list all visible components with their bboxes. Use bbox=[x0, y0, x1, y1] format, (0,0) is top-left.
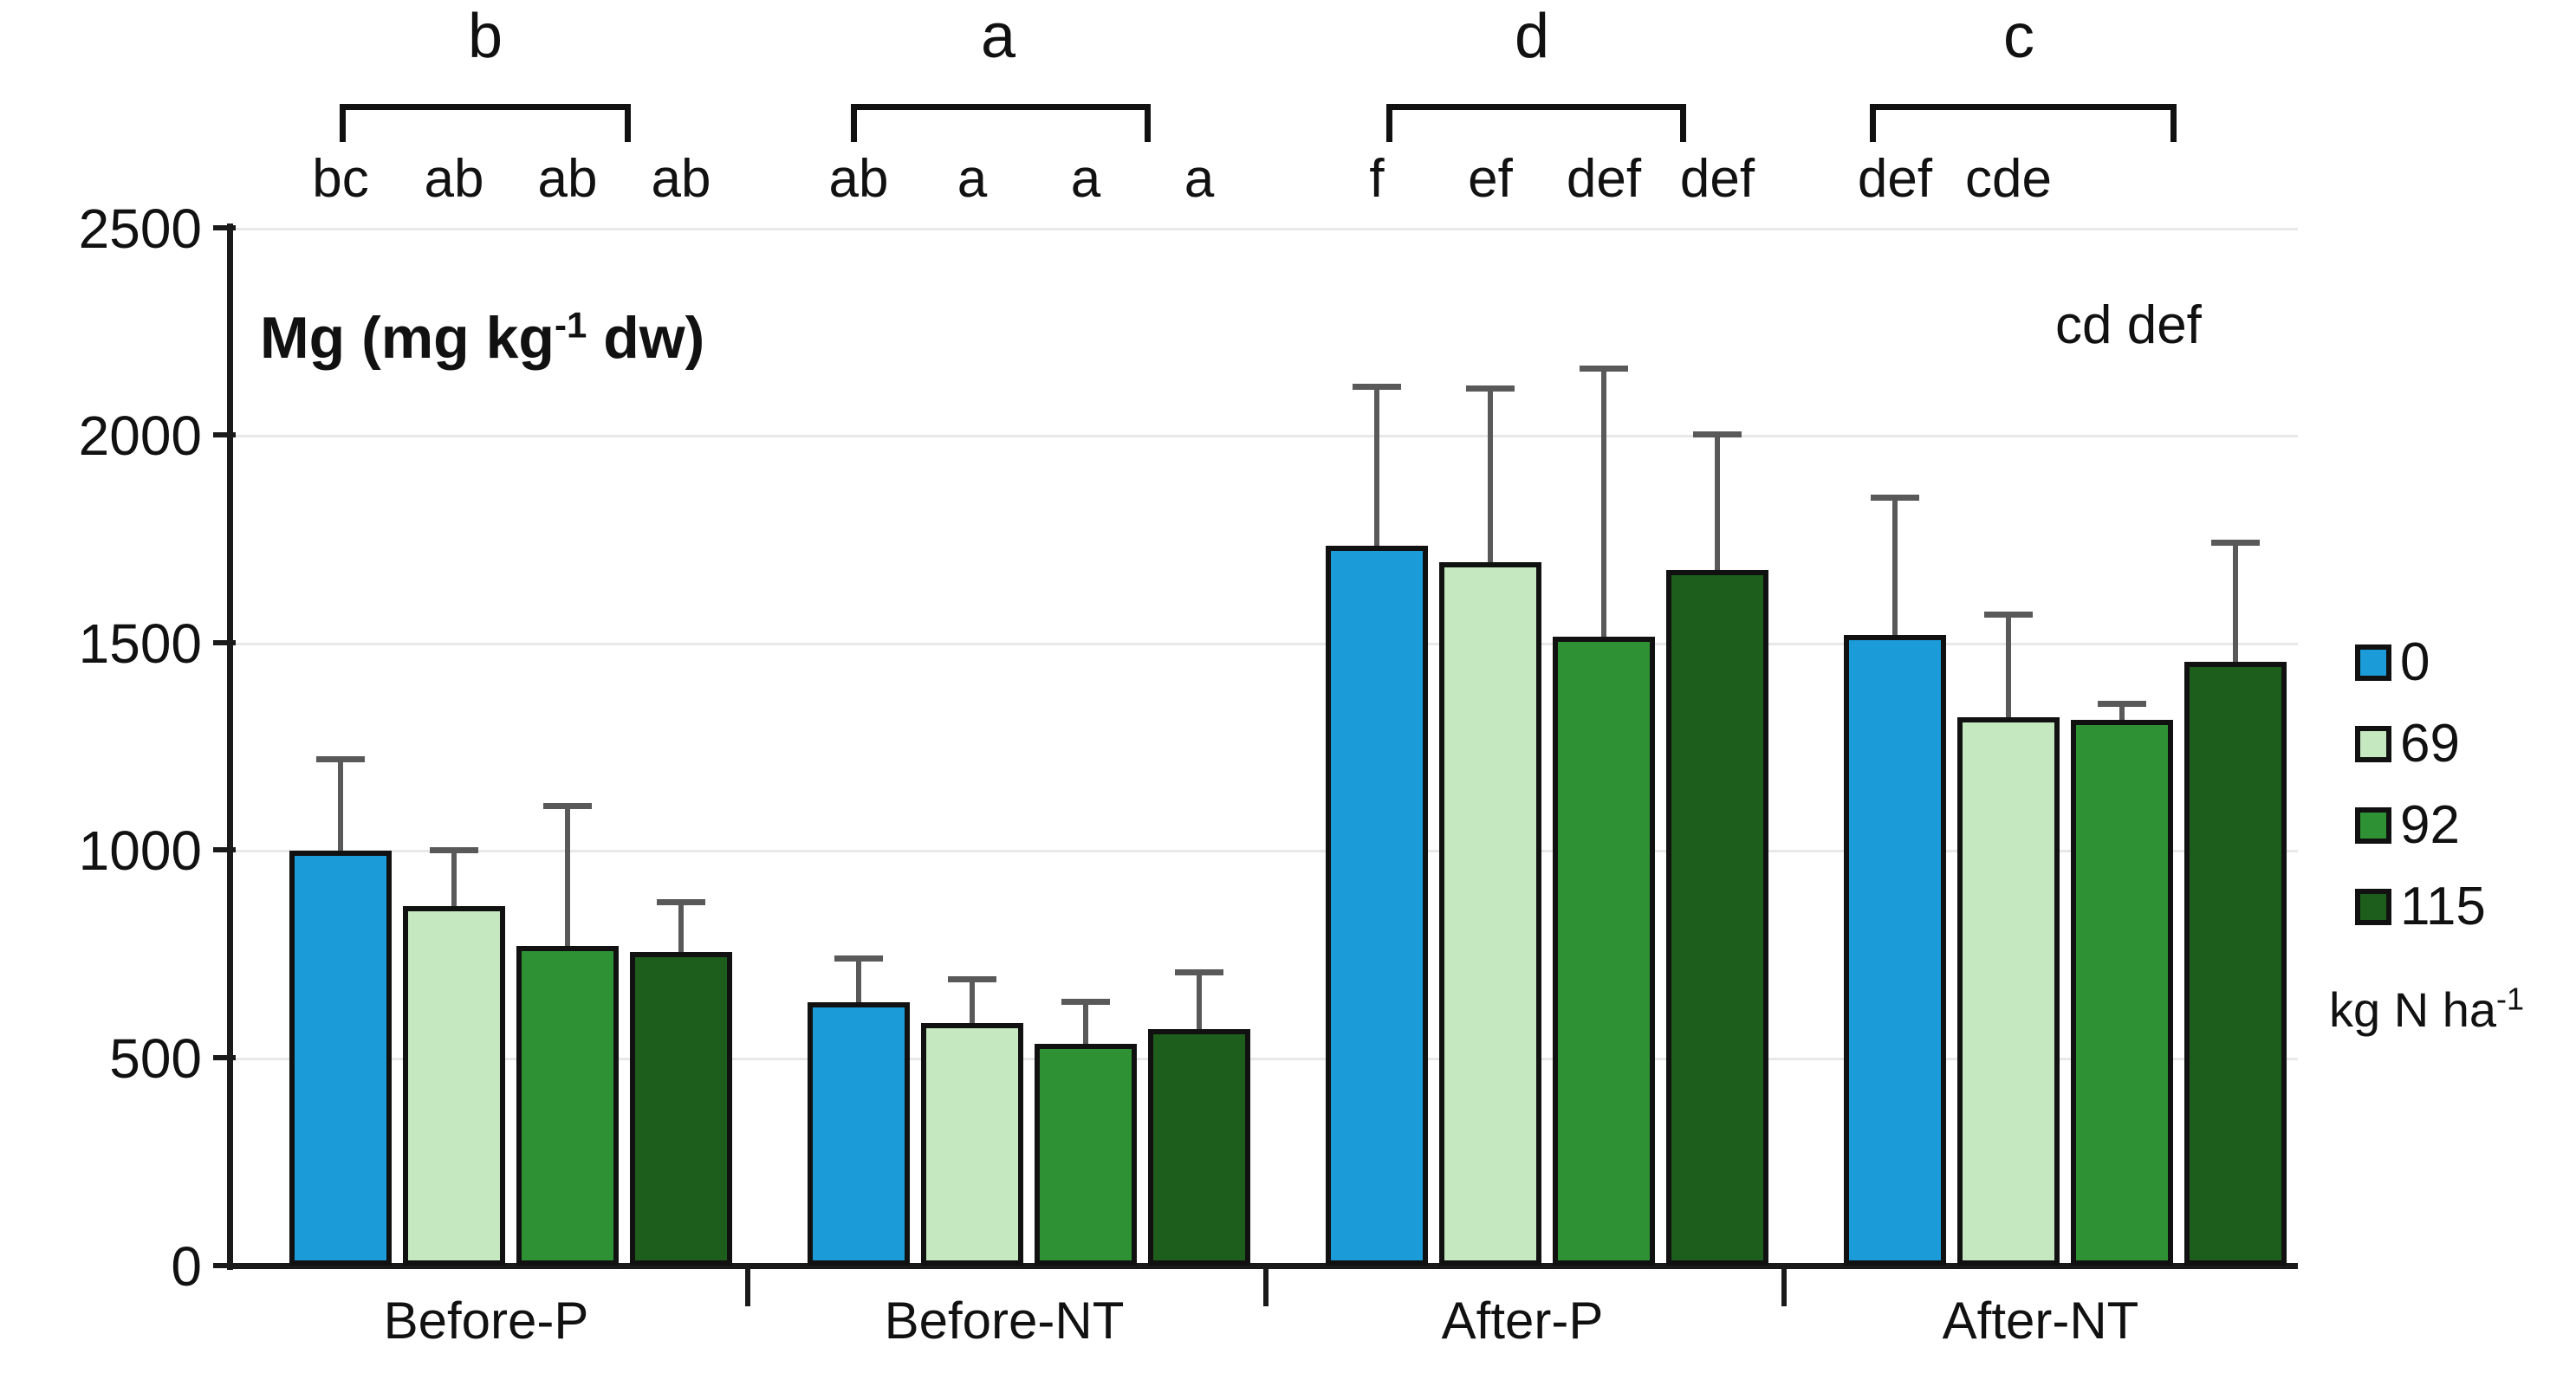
gridline-2500 bbox=[227, 228, 2298, 230]
legend-item-92[interactable]: 92 bbox=[2355, 785, 2486, 866]
legend-title-exponent: -1 bbox=[2496, 981, 2524, 1016]
error-bar-after-p-0 bbox=[1374, 384, 1379, 546]
y-tick-label-2500: 2500 bbox=[3, 201, 202, 256]
y-axis-title: Mg (mg kg-1 dw) bbox=[260, 303, 704, 372]
error-bar-after-nt-115 bbox=[2233, 540, 2238, 661]
bar-after-nt-92[interactable] bbox=[2071, 720, 2173, 1266]
error-bar-before-p-0 bbox=[338, 756, 343, 851]
error-cap-before-nt-92 bbox=[1061, 999, 1110, 1005]
bar-letter-after-nt-69: cde bbox=[1930, 152, 2086, 206]
overflow-significance-letters: cd def bbox=[2055, 299, 2202, 353]
error-cap-after-p-115 bbox=[1693, 431, 1742, 437]
y-axis-title-exponent: -1 bbox=[555, 304, 587, 345]
legend-swatch-0 bbox=[2355, 644, 2391, 681]
legend-label-0: 0 bbox=[2400, 636, 2430, 690]
error-cap-before-nt-0 bbox=[834, 955, 883, 962]
legend-swatch-69 bbox=[2355, 726, 2391, 762]
error-bar-after-nt-69 bbox=[2006, 612, 2011, 717]
legend-item-69[interactable]: 69 bbox=[2355, 703, 2486, 785]
error-bar-after-p-69 bbox=[1488, 385, 1493, 562]
bar-after-p-115[interactable] bbox=[1666, 570, 1768, 1266]
legend-item-0[interactable]: 0 bbox=[2355, 622, 2486, 703]
bar-letter-after-p-115: def bbox=[1639, 152, 1795, 206]
legend-label-69: 69 bbox=[2400, 717, 2460, 771]
error-bar-after-nt-0 bbox=[1892, 495, 1898, 635]
y-axis-line bbox=[227, 223, 233, 1270]
x-category-after-nt: After-NT bbox=[1781, 1291, 2300, 1351]
bracket-before-nt bbox=[851, 104, 1151, 142]
error-bar-before-nt-0 bbox=[856, 955, 861, 1002]
bar-before-nt-92[interactable] bbox=[1035, 1044, 1137, 1266]
group-letter-before-p: b bbox=[338, 5, 633, 68]
bracket-after-nt bbox=[1870, 104, 2177, 142]
bar-after-p-92[interactable] bbox=[1553, 637, 1655, 1266]
y-tick-1000 bbox=[213, 847, 236, 852]
bar-letter-before-nt-115: a bbox=[1121, 152, 1277, 206]
error-cap-after-p-92 bbox=[1580, 366, 1628, 372]
y-tick-label-0: 0 bbox=[3, 1239, 202, 1294]
error-cap-after-p-69 bbox=[1466, 385, 1515, 392]
y-axis-title-main: Mg (mg kg bbox=[260, 305, 555, 371]
bar-before-nt-69[interactable] bbox=[921, 1023, 1023, 1266]
bar-after-p-69[interactable] bbox=[1439, 562, 1541, 1266]
error-cap-after-nt-115 bbox=[2211, 540, 2260, 546]
bar-after-nt-0[interactable] bbox=[1844, 635, 1946, 1266]
error-bar-before-p-115 bbox=[678, 899, 684, 952]
error-cap-before-nt-115 bbox=[1175, 969, 1223, 975]
legend-label-115: 115 bbox=[2400, 880, 2486, 934]
group-letter-before-nt: a bbox=[851, 5, 1145, 68]
error-cap-before-nt-69 bbox=[948, 976, 996, 982]
x-category-after-p: After-P bbox=[1263, 1291, 1781, 1351]
y-tick-label-1500: 1500 bbox=[3, 616, 202, 671]
bar-before-p-0[interactable] bbox=[289, 851, 392, 1266]
bar-after-nt-115[interactable] bbox=[2184, 662, 2287, 1266]
legend-swatch-115 bbox=[2355, 889, 2391, 925]
error-bar-before-p-92 bbox=[565, 803, 570, 946]
group-letter-after-nt: c bbox=[1872, 5, 2166, 68]
legend: 0 69 92 115 bbox=[2355, 622, 2486, 948]
legend-title: kg N ha-1 bbox=[2329, 986, 2524, 1034]
error-bar-after-p-92 bbox=[1601, 366, 1606, 637]
bar-before-p-69[interactable] bbox=[403, 906, 505, 1266]
bracket-after-p bbox=[1386, 104, 1686, 142]
bar-before-nt-115[interactable] bbox=[1148, 1029, 1250, 1266]
bar-after-nt-69[interactable] bbox=[1957, 717, 2060, 1266]
error-cap-before-p-69 bbox=[430, 847, 478, 853]
y-tick-label-500: 500 bbox=[3, 1031, 202, 1086]
gridline-1500 bbox=[227, 643, 2298, 645]
y-tick-500 bbox=[213, 1055, 236, 1060]
error-bar-before-p-69 bbox=[451, 847, 457, 907]
bar-before-p-92[interactable] bbox=[516, 946, 619, 1266]
legend-label-92: 92 bbox=[2400, 799, 2460, 852]
error-bar-before-nt-92 bbox=[1083, 999, 1088, 1044]
error-cap-after-p-0 bbox=[1353, 384, 1401, 390]
y-tick-2500 bbox=[213, 225, 236, 230]
error-cap-after-nt-92 bbox=[2098, 701, 2146, 707]
legend-swatch-92 bbox=[2355, 807, 2391, 844]
chart-canvas: 2500 2000 1500 1000 500 0 Mg (mg kg-1 dw… bbox=[0, 0, 2576, 1386]
bar-letter-before-p-115: ab bbox=[603, 152, 759, 206]
y-tick-1500 bbox=[213, 640, 236, 645]
x-category-before-nt: Before-NT bbox=[745, 1291, 1263, 1351]
error-bar-before-nt-69 bbox=[970, 976, 975, 1023]
x-category-before-p: Before-P bbox=[227, 1291, 745, 1351]
bar-after-p-0[interactable] bbox=[1326, 546, 1428, 1266]
error-cap-before-p-0 bbox=[316, 756, 365, 762]
legend-title-main: kg N ha bbox=[2329, 982, 2496, 1037]
y-tick-2000 bbox=[213, 432, 236, 437]
group-letter-after-p: d bbox=[1385, 5, 1679, 68]
error-bar-after-p-115 bbox=[1715, 431, 1720, 571]
gridline-2000 bbox=[227, 435, 2298, 437]
bracket-before-p bbox=[340, 104, 631, 142]
bar-before-nt-0[interactable] bbox=[808, 1002, 910, 1266]
error-bar-before-nt-115 bbox=[1197, 969, 1202, 1029]
y-tick-0 bbox=[213, 1263, 236, 1268]
y-tick-label-1000: 1000 bbox=[3, 823, 202, 878]
legend-item-115[interactable]: 115 bbox=[2355, 866, 2486, 948]
error-cap-before-p-92 bbox=[543, 803, 592, 809]
bar-before-p-115[interactable] bbox=[630, 952, 732, 1266]
error-cap-after-nt-69 bbox=[1984, 612, 2033, 618]
error-cap-after-nt-0 bbox=[1871, 495, 1919, 501]
error-cap-before-p-115 bbox=[657, 899, 705, 905]
y-axis-title-tail: dw) bbox=[587, 305, 704, 371]
y-tick-label-2000: 2000 bbox=[3, 408, 202, 463]
